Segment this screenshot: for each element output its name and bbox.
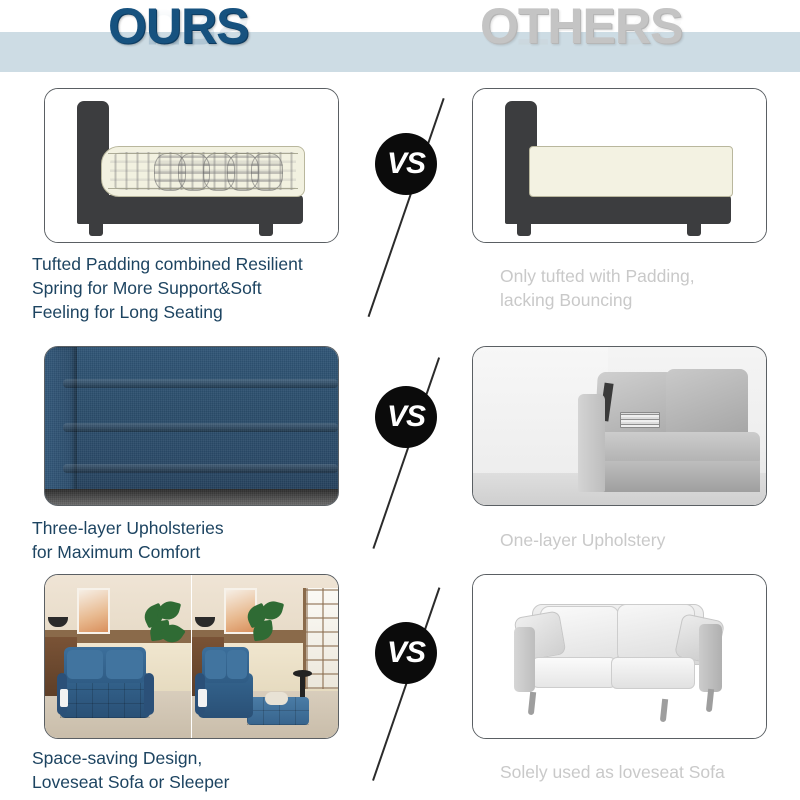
others-caption-padding-spring: Only tufted with Padding, lacking Bounci… — [500, 264, 790, 312]
mattress-plain-padding — [529, 146, 733, 197]
ours-title-group: OURS OURS — [108, 0, 248, 76]
bed-base — [77, 195, 303, 224]
room-photo-sleeper-mode — [191, 575, 338, 738]
sofa-arm — [514, 627, 535, 692]
vs-badge: VS — [375, 133, 437, 195]
sofa-seat-cushion — [532, 657, 616, 688]
fabric-seam — [63, 464, 338, 473]
others-image-gray-sofa-one-layer-photo — [472, 346, 767, 506]
ours-caption-upholstery-layers: Three-layer Upholsteries for Maximum Com… — [32, 516, 372, 564]
blue-fabric-closeup — [45, 347, 338, 505]
loveseat-back-cushion — [67, 650, 104, 679]
folded-blanket — [265, 692, 288, 705]
gray-sofa-photo — [473, 347, 766, 505]
bed-plain-illustration — [473, 89, 766, 242]
fabric-seam — [63, 379, 338, 388]
fabric-seam — [63, 423, 338, 432]
sofa-leg — [527, 692, 535, 715]
others-caption-upholstery-layers: One-layer Upholstery — [500, 528, 790, 552]
bed-leg-left — [89, 221, 103, 236]
side-pocket — [60, 689, 69, 707]
sofa-seat-cushion — [611, 657, 695, 690]
gray-loveseat-illustration — [473, 575, 766, 738]
potted-plant — [245, 601, 289, 676]
sofa-arm — [699, 624, 722, 692]
split-room-photos — [45, 575, 338, 738]
wall-art — [77, 588, 110, 634]
vs-badge: VS — [375, 386, 437, 448]
mattress-seam — [108, 188, 298, 190]
sofa-back-cushion — [666, 369, 748, 442]
stack-of-books — [620, 412, 660, 428]
others-title-group: OTHERS OTHERS — [480, 0, 682, 76]
others-image-gray-loveseat-sofa-only — [472, 574, 767, 739]
ours-image-blue-fabric-three-layer-closeup — [44, 346, 339, 506]
diagonal-divider-line — [368, 98, 445, 317]
sofa-leg — [706, 689, 714, 712]
loveseat-back-cushion — [106, 650, 143, 679]
header: OURS OURS OTHERS OTHERS — [0, 0, 800, 76]
sofa-leg — [659, 699, 667, 722]
others-caption-space-saving: Solely used as loveseat Sofa — [500, 760, 790, 784]
sofa-skirt — [596, 461, 760, 493]
loveseat-back-cushion — [205, 650, 225, 679]
potted-plant — [141, 601, 185, 676]
fabric-side-edge — [45, 347, 77, 505]
mattress-with-springs — [101, 146, 305, 197]
comparison-row-upholstery-layers: VS Three-layer Upholsteries for Maximum … — [0, 338, 800, 568]
room-photo-sofa-mode — [45, 575, 191, 738]
bed-leg-left — [517, 221, 531, 236]
mattress-seam — [108, 153, 298, 155]
ours-title-reflection: OURS — [108, 0, 248, 53]
ours-image-blue-loveseat-convertible-sleeper-split — [44, 574, 339, 739]
loveseat-back-cushion — [227, 650, 247, 679]
ours-caption-padding-spring: Tufted Padding combined Resilient Spring… — [32, 252, 372, 324]
coil-spring — [251, 153, 283, 190]
header-titles: OURS OURS OTHERS OTHERS — [0, 0, 800, 76]
comparison-row-space-saving: VS Space-saving Design, Loveseat Sofa or… — [0, 568, 800, 800]
ours-image-bed-cutaway-with-coil-springs — [44, 88, 339, 243]
bed-cutaway-illustration — [45, 89, 338, 242]
ours-caption-space-saving: Space-saving Design, Loveseat Sofa or Sl… — [32, 746, 372, 794]
others-image-bed-cutaway-plain-padding — [472, 88, 767, 243]
others-title-reflection: OTHERS — [480, 0, 682, 53]
vs-badge: VS — [375, 622, 437, 684]
sofa-arm — [578, 394, 604, 492]
side-pocket — [198, 689, 207, 707]
comparison-row-padding-spring: VS Tufted Padding combined Resilient Spr… — [0, 76, 800, 338]
bed-leg-right — [259, 221, 273, 236]
floor-shadow — [45, 489, 338, 505]
bed-leg-right — [687, 221, 701, 236]
loveseat-arm — [144, 673, 154, 715]
bed-base — [505, 195, 731, 224]
